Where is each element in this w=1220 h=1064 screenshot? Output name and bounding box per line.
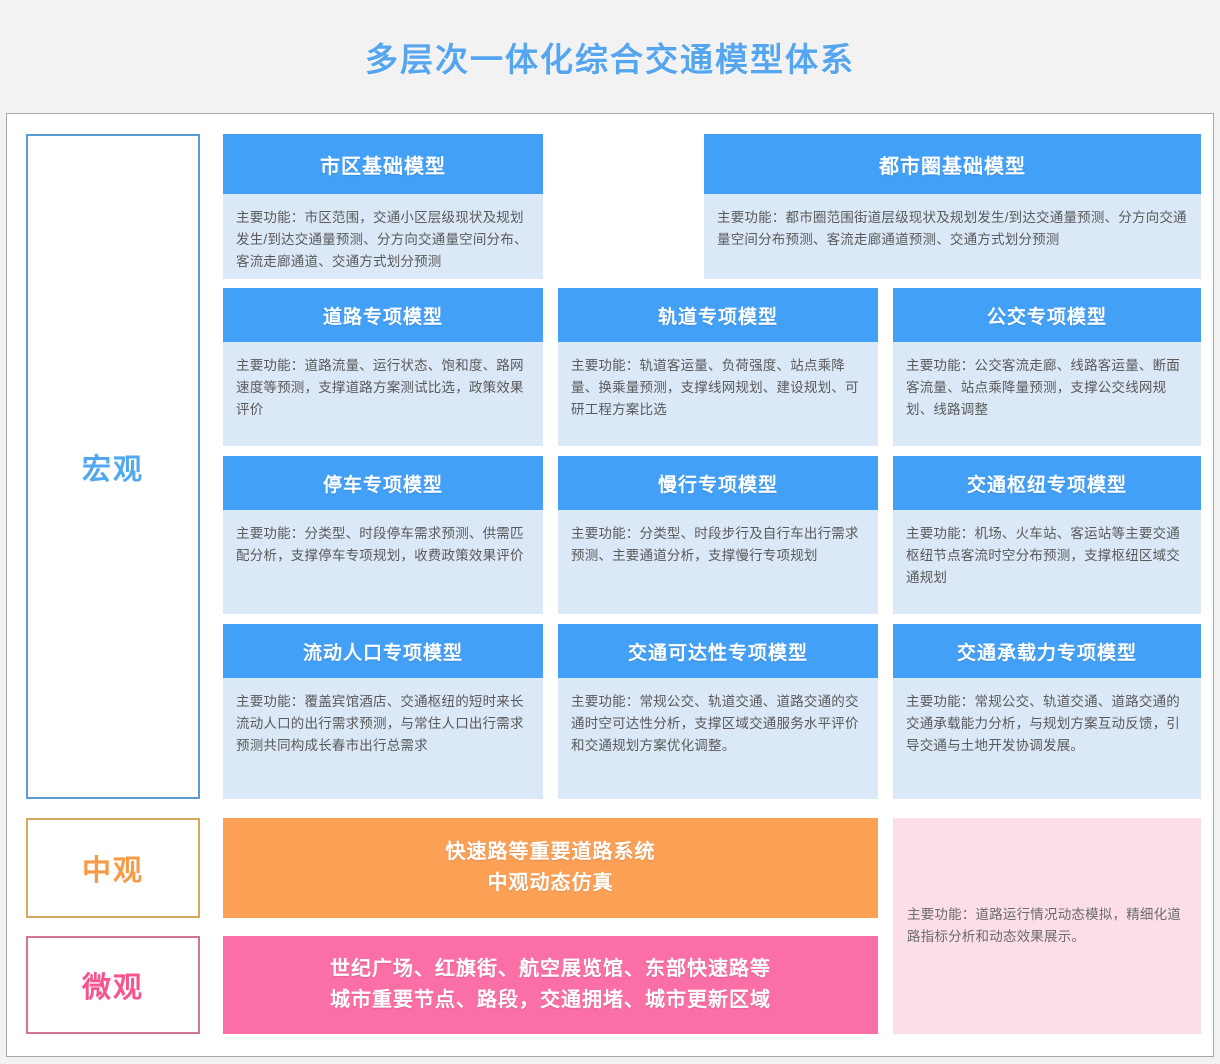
- card-title: 交通枢纽专项模型: [893, 456, 1201, 510]
- scale-box-micro: 微观: [26, 936, 200, 1034]
- card-body: 主要功能：分类型、时段步行及自行车出行需求预测、主要通道分析，支撑慢行专项规划: [558, 510, 878, 614]
- card-body: 主要功能：覆盖宾馆酒店、交通枢纽的短时来长流动人口的出行需求预测，与常住人口出行…: [223, 678, 543, 799]
- scale-box-meso: 中观: [26, 818, 200, 918]
- card-body: 主要功能：机场、火车站、客运站等主要交通枢纽节点客流时空分布预测，支撑枢纽区域交…: [893, 510, 1201, 614]
- card-metro-area-base[interactable]: 都市圈基础模型 主要功能：都市圈范围街道层级现状及规划发生/到达交通量预测、分方…: [704, 134, 1201, 279]
- card-capacity-special[interactable]: 交通承载力专项模型 主要功能：常规公交、轨道交通、道路交通的交通承载能力分析，与…: [893, 624, 1201, 799]
- card-accessibility-special[interactable]: 交通可达性专项模型 主要功能：常规公交、轨道交通、道路交通的交通时空可达性分析，…: [558, 624, 878, 799]
- card-title: 公交专项模型: [893, 288, 1201, 342]
- scale-box-macro: 宏观: [26, 134, 200, 799]
- card-body: 主要功能：道路流量、运行状态、饱和度、路网速度等预测，支撑道路方案测试比选，政策…: [223, 342, 543, 446]
- banner-micro-line2: 城市重要节点、路段，交通拥堵、城市更新区域: [330, 985, 771, 1016]
- card-slow-traffic-special[interactable]: 慢行专项模型 主要功能：分类型、时段步行及自行车出行需求预测、主要通道分析，支撑…: [558, 456, 878, 614]
- card-body: 主要功能：常规公交、轨道交通、道路交通的交通时空可达性分析，支撑区域交通服务水平…: [558, 678, 878, 799]
- scale-label-meso: 中观: [82, 847, 144, 889]
- card-hub-special[interactable]: 交通枢纽专项模型 主要功能：机场、火车站、客运站等主要交通枢纽节点客流时空分布预…: [893, 456, 1201, 614]
- card-title: 道路专项模型: [223, 288, 543, 342]
- card-title: 流动人口专项模型: [223, 624, 543, 678]
- card-rail-special[interactable]: 轨道专项模型 主要功能：轨道客运量、负荷强度、站点乘降量、换乘量预测，支撑线网规…: [558, 288, 878, 446]
- banner-meso[interactable]: 快速路等重要道路系统 中观动态仿真: [223, 818, 878, 918]
- banner-meso-line2: 中观动态仿真: [446, 868, 656, 899]
- card-bus-special[interactable]: 公交专项模型 主要功能：公交客流走廊、线路客运量、断面客流量、站点乘降量预测，支…: [893, 288, 1201, 446]
- banner-micro[interactable]: 世纪广场、红旗街、航空展览馆、东部快速路等 城市重要节点、路段，交通拥堵、城市更…: [223, 936, 878, 1034]
- page-title: 多层次一体化综合交通模型体系: [365, 33, 855, 81]
- banner-meso-line1: 快速路等重要道路系统: [446, 837, 656, 868]
- card-title: 停车专项模型: [223, 456, 543, 510]
- scale-label-micro: 微观: [82, 964, 144, 1006]
- card-title: 交通可达性专项模型: [558, 624, 878, 678]
- diagram-canvas: 宏观 中观 微观 市区基础模型 主要功能：市区范围，交通小区层级现状及规划发生/…: [6, 113, 1214, 1057]
- card-title: 市区基础模型: [223, 134, 543, 194]
- card-body: 主要功能：都市圈范围街道层级现状及规划发生/到达交通量预测、分方向交通量空间分布…: [704, 194, 1201, 279]
- card-body: 主要功能：常规公交、轨道交通、道路交通的交通承载能力分析，与规划方案互动反馈，引…: [893, 678, 1201, 799]
- scale-label-macro: 宏观: [82, 446, 144, 488]
- title-band: 多层次一体化综合交通模型体系: [0, 0, 1220, 113]
- card-body: 主要功能：市区范围，交通小区层级现状及规划发生/到达交通量预测、分方向交通量空间…: [223, 194, 543, 283]
- card-parking-special[interactable]: 停车专项模型 主要功能：分类型、时段停车需求预测、供需匹配分析，支撑停车专项规划…: [223, 456, 543, 614]
- card-floating-population-special[interactable]: 流动人口专项模型 主要功能：覆盖宾馆酒店、交通枢纽的短时来长流动人口的出行需求预…: [223, 624, 543, 799]
- card-title: 交通承载力专项模型: [893, 624, 1201, 678]
- banner-micro-line1: 世纪广场、红旗街、航空展览馆、东部快速路等: [330, 954, 771, 985]
- card-title: 轨道专项模型: [558, 288, 878, 342]
- card-urban-base[interactable]: 市区基础模型 主要功能：市区范围，交通小区层级现状及规划发生/到达交通量预测、分…: [223, 134, 543, 279]
- note-panel-body: 主要功能：道路运行情况动态模拟，精细化道路指标分析和动态效果展示。: [893, 904, 1201, 948]
- card-body: 主要功能：轨道客运量、负荷强度、站点乘降量、换乘量预测，支撑线网规划、建设规划、…: [558, 342, 878, 446]
- card-body: 主要功能：分类型、时段停车需求预测、供需匹配分析，支撑停车专项规划，收费政策效果…: [223, 510, 543, 614]
- card-body: 主要功能：公交客流走廊、线路客运量、断面客流量、站点乘降量预测，支撑公交线网规划…: [893, 342, 1201, 446]
- card-road-special[interactable]: 道路专项模型 主要功能：道路流量、运行状态、饱和度、路网速度等预测，支撑道路方案…: [223, 288, 543, 446]
- card-title: 慢行专项模型: [558, 456, 878, 510]
- card-title: 都市圈基础模型: [704, 134, 1201, 194]
- note-panel-simulation: 主要功能：道路运行情况动态模拟，精细化道路指标分析和动态效果展示。: [893, 818, 1201, 1034]
